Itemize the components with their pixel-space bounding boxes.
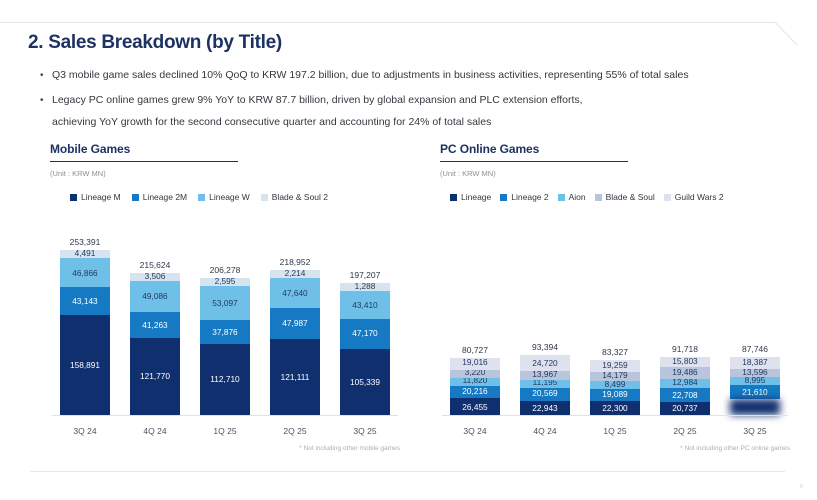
bar-column[interactable]: 80,72719,0163,22011,82020,21626,455	[440, 238, 510, 415]
bar-segment[interactable]: 26,455	[450, 398, 500, 415]
bar-segment-label: 26,455	[462, 403, 487, 411]
legend-item-lineage-m[interactable]: Lineage M	[70, 192, 121, 202]
bar-segment-redacted[interactable]	[730, 399, 780, 415]
x-axis-labels: 3Q 244Q 241Q 252Q 253Q 25	[50, 426, 400, 436]
legend-swatch-icon	[261, 194, 268, 201]
legend-label: Aion	[569, 192, 586, 202]
bar-segment[interactable]: 19,486	[660, 367, 710, 379]
axis-line	[442, 415, 788, 416]
bar-segment-label: 43,410	[352, 301, 377, 309]
bar-segment[interactable]: 3,220	[450, 370, 500, 378]
panel-title-pc: PC Online Games	[440, 142, 790, 156]
bar-segment[interactable]: 11,820	[450, 378, 500, 386]
bar-segment-label: 20,569	[532, 389, 557, 397]
x-axis-label: 2Q 25	[260, 426, 330, 436]
bar-segment[interactable]: 1,288	[340, 283, 390, 291]
bar-segment-label: 14,179	[602, 372, 627, 380]
bar-segment-label: 3,220	[465, 370, 486, 377]
bar-segment-label: 19,486	[672, 368, 697, 376]
bar-segment[interactable]: 47,170	[340, 319, 390, 349]
bar-segment[interactable]: 8,995	[730, 377, 780, 385]
bar-segment[interactable]: 47,987	[270, 308, 320, 338]
bar-segment-label: 121,111	[281, 373, 310, 381]
x-axis-labels: 3Q 244Q 241Q 252Q 253Q 25	[440, 426, 790, 436]
bar-total-label: 80,727	[462, 345, 488, 355]
list-item: • Q3 mobile game sales declined 10% QoQ …	[40, 68, 800, 83]
bar-segment[interactable]: 13,967	[520, 371, 570, 380]
bar-segment[interactable]: 2,595	[200, 278, 250, 286]
bar-segment-label: 41,263	[142, 321, 167, 329]
x-axis-label: 2Q 25	[650, 426, 720, 436]
bar-segment[interactable]: 22,708	[660, 388, 710, 402]
bar-column[interactable]: 215,6243,50649,08641,263121,770	[120, 238, 190, 415]
bar-segment[interactable]: 13,596	[730, 369, 780, 378]
legend-swatch-icon	[664, 194, 671, 201]
top-divider	[0, 22, 775, 23]
bar-segment-label: 19,259	[602, 361, 627, 369]
bar-segment-label: 47,640	[282, 289, 307, 297]
legend-swatch-icon	[450, 194, 457, 201]
legend-swatch-icon	[198, 194, 205, 201]
bar-segment-label: 105,339	[350, 378, 380, 386]
bar-total-label: 253,391	[70, 237, 101, 247]
x-axis-label: 3Q 25	[330, 426, 400, 436]
legend-item-aion[interactable]: Aion	[558, 192, 586, 202]
list-item: • Legacy PC online games grew 9% YoY to …	[40, 93, 800, 130]
bar-segment-label: 24,720	[532, 359, 557, 367]
bar-segment-label: 15,803	[672, 357, 697, 365]
bar-segment[interactable]: 21,610	[730, 385, 780, 399]
legend-item-lineage[interactable]: Lineage	[450, 192, 491, 202]
bullet-marker: •	[40, 68, 52, 83]
bar-segment-label: 2,214	[285, 270, 306, 277]
bar-segment[interactable]: 2,214	[270, 270, 320, 278]
panel-unit-pc: (Unit : KRW MN)	[440, 169, 790, 178]
panel-mobile-games: Mobile Games (Unit : KRW MN) Lineage MLi…	[50, 142, 400, 472]
bar-segment[interactable]: 18,387	[730, 357, 780, 369]
bar-segment-label: 20,737	[672, 404, 697, 412]
bar-segment-label: 112,710	[210, 375, 239, 383]
bar-total-label: 218,952	[280, 257, 311, 267]
legend-item-blade-soul-2[interactable]: Blade & Soul 2	[261, 192, 328, 202]
legend-label: Lineage W	[209, 192, 250, 202]
legend-item-lineage-2m[interactable]: Lineage 2M	[132, 192, 187, 202]
corner-diagonal-decoration	[775, 0, 817, 46]
bar-segment-label: 22,708	[672, 391, 697, 399]
stacked-bar[interactable]: 3,50649,08641,263121,770	[130, 273, 180, 415]
bar-segment[interactable]: 49,086	[130, 281, 180, 312]
bar-column[interactable]: 91,71815,80319,48612,98422,70820,737	[650, 238, 720, 415]
bar-segment[interactable]: 11,195	[520, 380, 570, 388]
bar-total-label: 91,718	[672, 344, 698, 354]
bar-segment-label: 19,016	[462, 358, 487, 366]
bar-segment-label: 3,506	[145, 273, 166, 280]
bar-segment-label: 46,866	[72, 269, 97, 277]
legend-swatch-icon	[595, 194, 602, 201]
legend-label: Blade & Soul 2	[272, 192, 328, 202]
chart-mobile-games: 253,3914,49146,86643,143158,891215,6243,…	[50, 238, 400, 438]
legend-label: Blade & Soul	[606, 192, 655, 202]
legend-item-lineage-w[interactable]: Lineage W	[198, 192, 250, 202]
bar-segment[interactable]: 20,216	[450, 386, 500, 399]
bar-segment-label: 43,143	[72, 297, 97, 305]
bar-column[interactable]: 197,2071,28843,41047,170105,339	[330, 238, 400, 415]
x-axis-label: 1Q 25	[580, 426, 650, 436]
bar-segment-label: 4,491	[75, 250, 96, 257]
legend-swatch-icon	[70, 194, 77, 201]
panel-underline	[50, 161, 238, 162]
bar-segment-label: 49,086	[142, 292, 167, 300]
x-axis-label: 3Q 25	[720, 426, 790, 436]
bar-segment[interactable]: 47,640	[270, 278, 320, 308]
stacked-bar[interactable]: 2,59553,09737,876112,710	[200, 278, 250, 415]
bar-segment-label: 53,097	[212, 299, 237, 307]
bar-segment[interactable]: 158,891	[60, 315, 110, 415]
bullet-text-2: Legacy PC online games grew 9% YoY to KR…	[52, 94, 583, 106]
legend-item-blade-soul[interactable]: Blade & Soul	[595, 192, 655, 202]
bar-segment[interactable]: 20,737	[660, 402, 710, 415]
x-axis-label: 3Q 24	[440, 426, 510, 436]
x-axis-label: 3Q 24	[50, 426, 120, 436]
bar-segment-label: 1,288	[355, 283, 376, 290]
panel-title-mobile: Mobile Games	[50, 142, 400, 156]
bar-segment[interactable]: 22,300	[590, 401, 640, 415]
legend-label: Lineage	[461, 192, 491, 202]
legend-item-lineage-2[interactable]: Lineage 2	[500, 192, 548, 202]
bar-segment-label: 37,876	[212, 328, 237, 336]
bar-segment[interactable]: 19,089	[590, 389, 640, 401]
legend-swatch-icon	[558, 194, 565, 201]
stacked-bar[interactable]: 15,80319,48612,98422,70820,737	[660, 357, 710, 415]
legend-pc: LineageLineage 2AionBlade & SoulGuild Wa…	[440, 192, 790, 202]
bar-segment-label: 158,891	[70, 361, 100, 369]
bar-segment[interactable]: 121,770	[130, 338, 180, 415]
bar-segment[interactable]: 8,499	[590, 381, 640, 389]
bar-segment-label: 18,387	[742, 358, 767, 366]
page-number: 6	[800, 484, 803, 490]
bar-segment-label: 121,770	[140, 372, 170, 380]
slide: 2. Sales Breakdown (by Title) • Q3 mobil…	[0, 0, 817, 500]
bar-segment[interactable]: 14,179	[590, 372, 640, 381]
bar-segment-label: 20,216	[462, 387, 487, 395]
bullet-text-1: Q3 mobile game sales declined 10% QoQ to…	[52, 69, 689, 81]
bar-segment[interactable]: 53,097	[200, 286, 250, 320]
bar-segment-label: 12,984	[672, 379, 697, 386]
bottom-divider	[30, 471, 785, 472]
x-axis-label: 4Q 24	[120, 426, 190, 436]
bar-segment[interactable]: 105,339	[340, 349, 390, 416]
legend-label: Lineage M	[81, 192, 121, 202]
bar-segment-label: 8,995	[745, 377, 766, 384]
bar-column[interactable]: 83,32719,25914,1798,49919,08922,300	[580, 238, 650, 415]
bar-segment-label: 21,610	[742, 388, 767, 396]
bar-total-label: 215,624	[140, 260, 171, 270]
legend-item-guild-wars-2[interactable]: Guild Wars 2	[664, 192, 724, 202]
bar-segment-label: 11,820	[463, 378, 488, 385]
page-title: 2. Sales Breakdown (by Title)	[28, 32, 282, 54]
bar-segment-label: 11,195	[533, 380, 558, 387]
x-axis-label: 1Q 25	[190, 426, 260, 436]
footnote-mobile: * Not including other mobile games	[299, 445, 400, 452]
bar-segment[interactable]: 37,876	[200, 320, 250, 344]
x-axis-label: 4Q 24	[510, 426, 580, 436]
stacked-bar[interactable]: 24,72013,96711,19520,56922,943	[520, 355, 570, 415]
stacked-bar[interactable]: 2,21447,64047,987121,111	[270, 270, 320, 415]
bar-column[interactable]: 87,74618,38713,5968,99521,610	[720, 238, 790, 415]
legend-label: Guild Wars 2	[675, 192, 724, 202]
panel-pc-online-games: PC Online Games (Unit : KRW MN) LineageL…	[440, 142, 790, 472]
bar-segment[interactable]: 43,143	[60, 287, 110, 314]
bar-segment[interactable]: 43,410	[340, 291, 390, 318]
stacked-bar[interactable]: 18,38713,5968,99521,610	[730, 357, 780, 415]
bar-column[interactable]: 206,2782,59553,09737,876112,710	[190, 238, 260, 415]
bar-segment-label: 22,300	[602, 404, 627, 412]
bar-column[interactable]: 253,3914,49146,86643,143158,891	[50, 238, 120, 415]
bar-total-label: 87,746	[742, 344, 768, 354]
bullet-text-2-cont: achieving YoY growth for the second cons…	[52, 115, 583, 130]
chart-pc-online-games: 80,72719,0163,22011,82020,21626,45593,39…	[440, 238, 790, 438]
bar-segment[interactable]: 20,569	[520, 388, 570, 401]
legend-swatch-icon	[132, 194, 139, 201]
stacked-bar[interactable]: 4,49146,86643,143158,891	[60, 250, 110, 415]
bar-segment[interactable]: 121,111	[270, 339, 320, 415]
bar-segment[interactable]: 46,866	[60, 258, 110, 288]
bar-column[interactable]: 93,39424,72013,96711,19520,56922,943	[510, 238, 580, 415]
bar-segment-label: 22,943	[532, 404, 557, 412]
bar-segment[interactable]: 19,016	[450, 358, 500, 370]
bar-segment-label: 13,596	[742, 369, 767, 376]
bar-segment[interactable]: 15,803	[660, 357, 710, 367]
bar-segment-label: 8,499	[605, 381, 626, 388]
legend-label: Lineage 2	[511, 192, 548, 202]
bar-segment[interactable]: 19,259	[590, 360, 640, 372]
stacked-bar[interactable]: 19,0163,22011,82020,21626,455	[450, 358, 500, 415]
bar-segment[interactable]: 41,263	[130, 312, 180, 338]
panel-underline	[440, 161, 628, 162]
panel-unit-mobile: (Unit : KRW MN)	[50, 169, 400, 178]
bar-segment-label: 2,595	[215, 278, 236, 285]
bullet-marker: •	[40, 93, 52, 108]
bar-segment-label: 13,967	[532, 371, 557, 379]
bar-segment[interactable]: 22,943	[520, 401, 570, 415]
stacked-bar[interactable]: 1,28843,41047,170105,339	[340, 283, 390, 415]
stacked-bar[interactable]: 19,25914,1798,49919,08922,300	[590, 360, 640, 415]
legend-label: Lineage 2M	[143, 192, 187, 202]
bar-segment[interactable]: 4,491	[60, 250, 110, 258]
bar-segment-label: 47,170	[352, 329, 377, 337]
bar-total-label: 83,327	[602, 347, 628, 357]
legend-swatch-icon	[500, 194, 507, 201]
bar-total-label: 197,207	[350, 270, 381, 280]
footnote-pc: * Not including other PC online games	[680, 445, 790, 452]
bullet-list: • Q3 mobile game sales declined 10% QoQ …	[40, 68, 800, 140]
axis-line	[52, 415, 398, 416]
bar-segment-label: 47,987	[282, 319, 307, 327]
bar-column[interactable]: 218,9522,21447,64047,987121,111	[260, 238, 330, 415]
bar-segment-label: 19,089	[602, 390, 627, 398]
bar-segment[interactable]: 3,506	[130, 273, 180, 281]
legend-mobile: Lineage MLineage 2MLineage WBlade & Soul…	[50, 192, 400, 202]
bar-segment[interactable]: 12,984	[660, 379, 710, 387]
bar-segment[interactable]: 112,710	[200, 344, 250, 415]
bar-total-label: 206,278	[210, 265, 241, 275]
bar-total-label: 93,394	[532, 342, 558, 352]
bar-segment[interactable]: 24,720	[520, 355, 570, 371]
